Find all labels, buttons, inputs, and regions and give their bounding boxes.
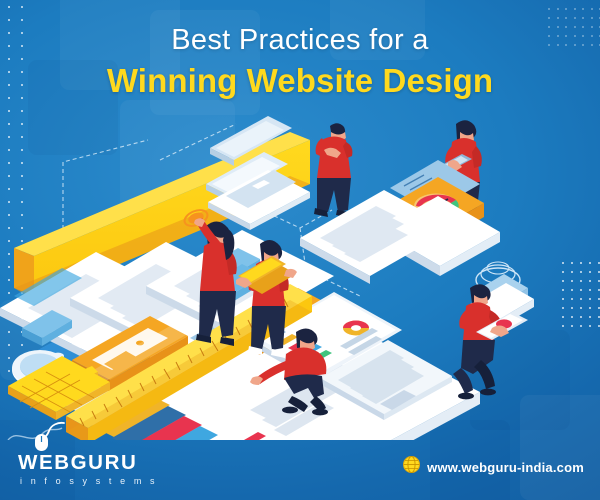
hero-illustration: www.	[0, 110, 600, 440]
brand-tagline: i n f o s y s t e m s	[20, 476, 178, 486]
globe-icon	[403, 456, 420, 478]
brand-wordmark: WEBGURU	[18, 452, 178, 474]
website-url[interactable]: www.webguru-india.com	[403, 456, 584, 478]
headline-block: Best Practices for a Winning Website Des…	[0, 22, 600, 102]
person-standing-monitor	[314, 123, 352, 218]
computer-mouse-icon	[18, 421, 178, 451]
website-url-text: www.webguru-india.com	[427, 460, 584, 475]
headline-line-2: Winning Website Design	[0, 60, 600, 102]
poster-canvas: Best Practices for a Winning Website Des…	[0, 0, 600, 500]
brand-logo[interactable]: WEBGURU i n f o s y s t e m s	[18, 421, 178, 486]
headline-line-1: Best Practices for a	[0, 22, 600, 58]
